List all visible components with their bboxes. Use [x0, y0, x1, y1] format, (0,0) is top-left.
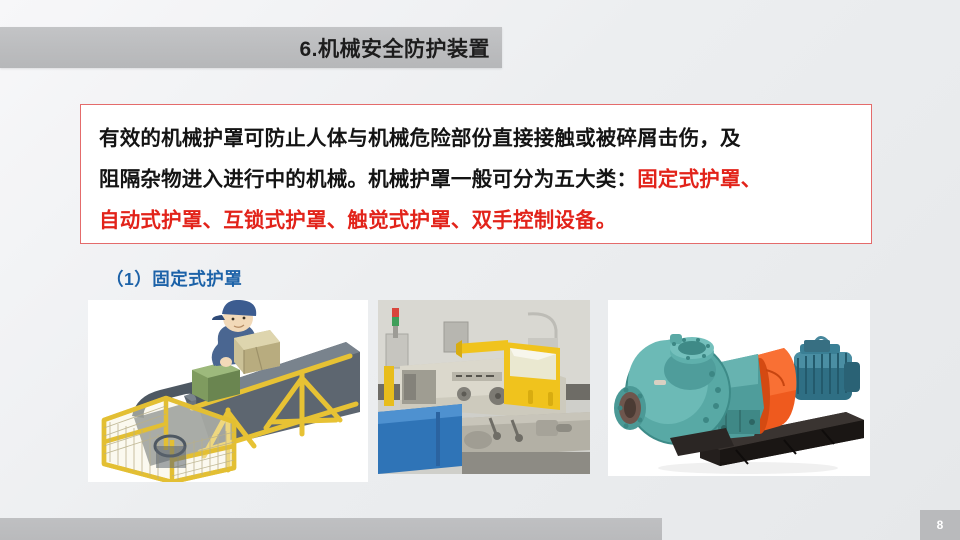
body-line-2-black: 阻隔杂物进入进行中的机械。机械护罩一般可分为五大类： — [99, 168, 637, 191]
body-line-2: 阻隔杂物进入进行中的机械。机械护罩一般可分为五大类：固定式护罩、 — [99, 159, 855, 200]
slide-title-bar: 6.机械安全防护装置 — [0, 27, 502, 68]
body-text-box: 有效的机械护罩可防止人体与机械危险部份直接接触或被碎屑击伤，及 阻隔杂物进入进行… — [80, 104, 872, 244]
body-line-2-red: 固定式护罩、 — [637, 168, 761, 191]
lathe-guard-photo-icon — [378, 300, 590, 474]
slide-canvas: 6.机械安全防护装置 有效的机械护罩可防止人体与机械危险部份直接接触或被碎屑击伤… — [0, 0, 960, 540]
figure-conveyor-guard — [88, 300, 368, 482]
figure-lathe-guard — [378, 300, 590, 474]
section-heading: （1）固定式护罩 — [106, 266, 242, 291]
slide-title: 6.机械安全防护装置 — [299, 33, 490, 63]
page-number: 8 — [937, 518, 944, 532]
slurry-pump-coupling-guard-photo-icon — [608, 300, 870, 476]
footer-bar — [0, 518, 662, 540]
body-line-3: 自动式护罩、互锁式护罩、触觉式护罩、双手控制设备。 — [99, 200, 855, 241]
body-line-1: 有效的机械护罩可防止人体与机械危险部份直接接触或被碎屑击伤，及 — [99, 118, 855, 159]
conveyor-guard-illustration-icon — [88, 300, 368, 482]
page-number-badge: 8 — [920, 510, 960, 540]
figure-pump-coupling-guard — [608, 300, 870, 476]
